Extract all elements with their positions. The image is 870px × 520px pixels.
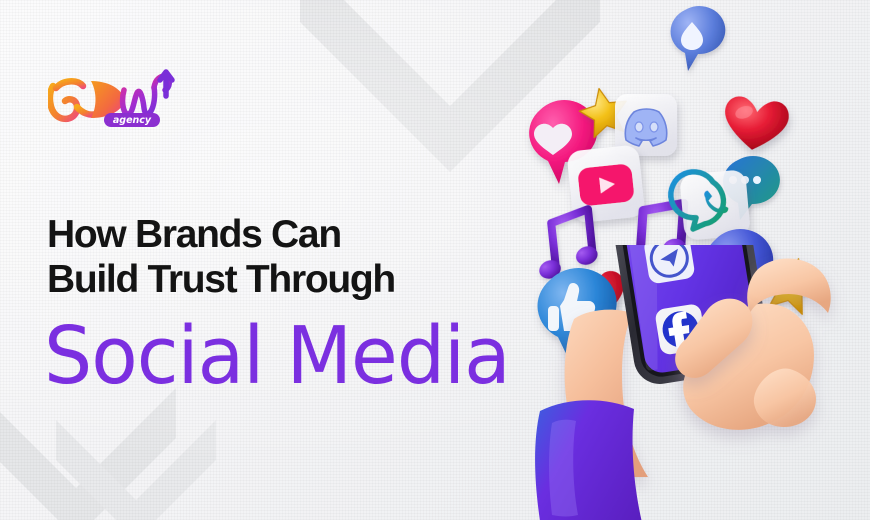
illustration-canvas: [470, 0, 870, 520]
heart-red-mid-icon: [565, 269, 629, 323]
phone-app-facebook[interactable]: [654, 303, 707, 356]
hand-sleeve: [535, 400, 648, 520]
logo-letter-d: [91, 81, 124, 118]
blog-banner: agency How Brands Can Build Trust Throug…: [0, 0, 870, 520]
phone-app-telegram[interactable]: [643, 245, 696, 285]
chevron-watermark-bottom-left: [0, 388, 176, 520]
headline-line-2: Build Trust Through: [47, 257, 395, 302]
star-gold-mid-icon: [623, 254, 701, 331]
star-gold-right-icon: [760, 252, 825, 316]
music-note-purple-left-icon: [531, 208, 601, 282]
hand-index-finger: [675, 299, 752, 378]
star-gold-top-icon: [576, 84, 633, 140]
chevron-watermark-bottom-left-2: [56, 420, 216, 520]
heart-bubble-blue-icon: [705, 229, 774, 313]
headline-line-1: How Brands Can: [47, 213, 341, 256]
logo-agency-badge: agency: [104, 113, 160, 127]
phone-screen: [611, 245, 760, 375]
youtube-tile-icon: [566, 144, 645, 223]
discord-tile-icon: [615, 94, 677, 156]
whatsapp-tile-icon: [669, 167, 751, 241]
subheading: Social Media: [44, 316, 510, 396]
hand-front-fingers: [683, 259, 831, 430]
music-note-purple-mid-icon: [619, 199, 692, 272]
heart-bubble-pink-icon: [529, 100, 597, 184]
thumbs-up-bubble-icon: [538, 268, 617, 364]
logo-letter-k: [50, 81, 96, 119]
flame-bubble-blue-icon: [671, 6, 726, 71]
chat-bubble-dots-icon: [723, 156, 780, 220]
smartphone[interactable]: [598, 245, 772, 388]
hand-holding-phone: [530, 245, 870, 520]
logo-letter-w: [123, 72, 172, 114]
heart-red-top-icon: [720, 95, 791, 155]
brand-logo[interactable]: agency: [48, 68, 178, 130]
page-title: How Brands Can Build Trust Through: [47, 212, 395, 302]
logo-agency-label: agency: [113, 115, 152, 126]
star-gold-far-right-icon: [801, 169, 843, 210]
hand-back-fingers: [565, 310, 648, 477]
chevron-watermark-top: [300, 0, 600, 206]
